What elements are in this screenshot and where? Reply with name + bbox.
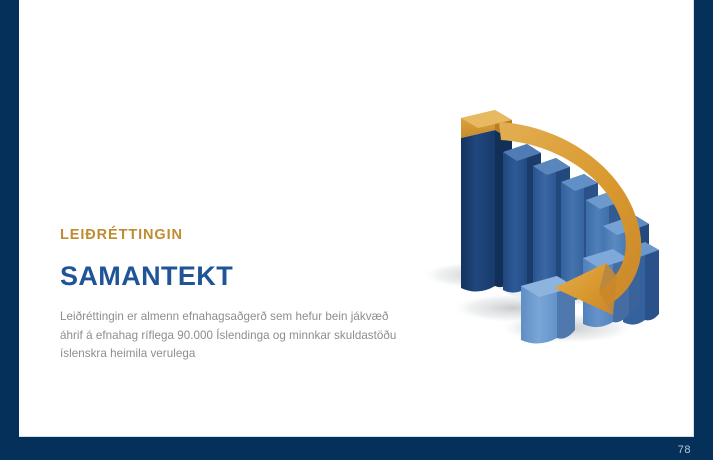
slide-root: LEIÐRÉTTINGIN SAMANTEKT Leiðréttingin er… bbox=[0, 0, 713, 460]
eyebrow-label: LEIÐRÉTTINGIN bbox=[60, 228, 440, 244]
page-title: SAMANTEKT bbox=[60, 262, 440, 290]
text-block: LEIÐRÉTTINGIN SAMANTEKT Leiðréttingin er… bbox=[60, 228, 440, 363]
body-paragraph: Leiðréttingin er almenn efnahagsaðgerð s… bbox=[60, 308, 410, 363]
radial-bar-chart-graphic bbox=[417, 100, 697, 350]
slide-content-card: LEIÐRÉTTINGIN SAMANTEKT Leiðréttingin er… bbox=[19, 0, 694, 437]
page-number: 78 bbox=[678, 444, 691, 456]
